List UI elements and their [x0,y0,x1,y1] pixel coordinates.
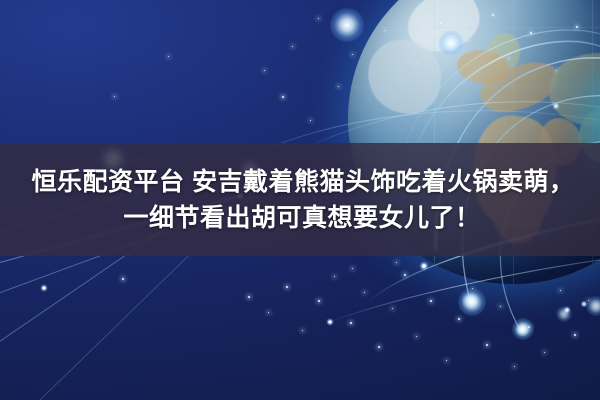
light-flare-h [556,306,572,322]
headline: 恒乐配资平台 安吉戴着熊猫头饰吃着火锅卖萌， 一细节看出胡可真想要女儿了！ [0,143,600,256]
light-flare-g [586,296,600,316]
headline-line-1: 恒乐配资平台 安吉戴着熊猫头饰吃着火锅卖萌， [26,165,575,199]
article-banner: 恒乐配资平台 安吉戴着熊猫头饰吃着火锅卖萌， 一细节看出胡可真想要女儿了！ [0,0,600,400]
light-flare-a [330,8,364,42]
light-flare-f [512,318,534,340]
light-flare-e [458,288,486,316]
light-flare-b [438,30,464,56]
headline-line-2: 一细节看出胡可真想要女儿了！ [119,201,480,235]
